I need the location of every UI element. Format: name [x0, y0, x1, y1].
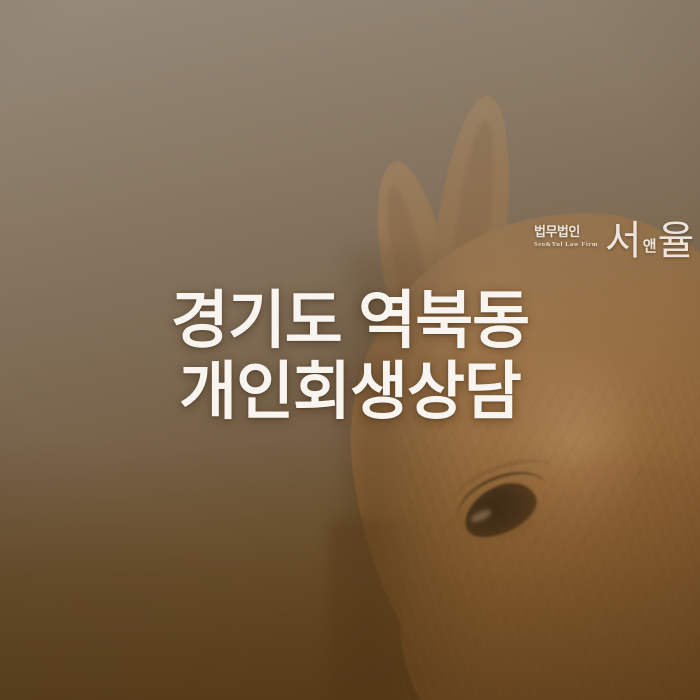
logo-english-subtitle: Seo&Yul Law Firm: [534, 241, 598, 249]
law-firm-logo: 법무법인 Seo&Yul Law Firm 서 앤 율: [534, 198, 684, 258]
logo-mark-second: 율: [658, 224, 695, 258]
logo-korean-prefix: 법무법인: [534, 225, 580, 239]
logo-text-block: 법무법인 Seo&Yul Law Firm: [534, 225, 598, 258]
logo-mark-first: 서: [605, 224, 642, 258]
image-canvas: 법무법인 Seo&Yul Law Firm 서 앤 율 경기도 역북동 개인회생…: [0, 0, 700, 700]
headline-title: 경기도 역북동 개인회생상담: [0, 286, 700, 428]
logo-mark-conjunction: 앤: [642, 239, 658, 258]
logo-wordmark: 서 앤 율: [605, 224, 694, 258]
